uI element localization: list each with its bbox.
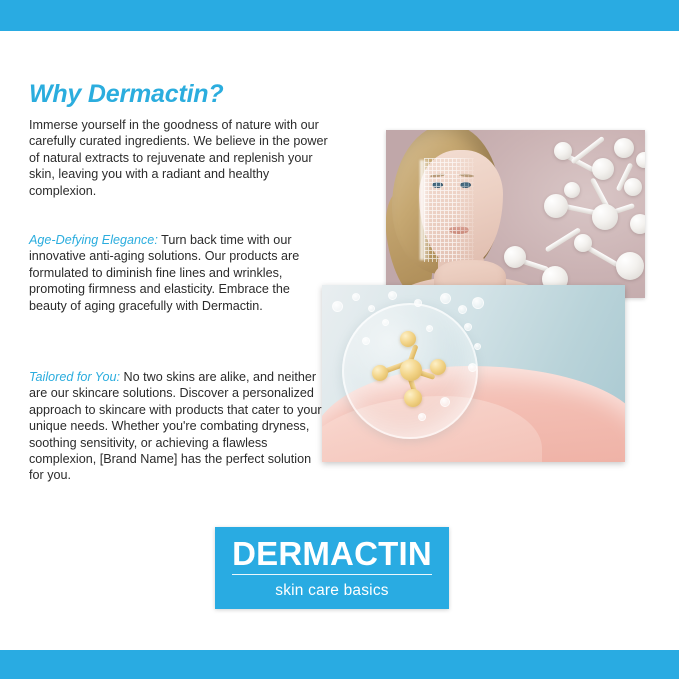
photo2-droplet	[464, 323, 472, 331]
brand-logo-tagline: skin care basics	[275, 582, 388, 600]
photo2-droplet	[382, 319, 389, 326]
photo2-droplet	[362, 337, 370, 345]
photo1-molecule-node	[592, 204, 618, 230]
photo2-droplet	[458, 305, 467, 314]
paragraph-intro-text: Immerse yourself in the goodness of natu…	[29, 118, 328, 198]
page-title: Why Dermactin?	[29, 80, 223, 109]
photo2-droplet	[468, 363, 477, 372]
photo2-droplet	[474, 343, 481, 350]
brand-logo-name: DERMACTIN	[232, 537, 432, 575]
page-content: Why Dermactin? Immerse yourself in the g…	[0, 31, 679, 650]
serum-bubble-silk-photo	[322, 285, 625, 462]
photo2-droplet	[472, 297, 484, 309]
paragraph-intro: Immerse yourself in the goodness of natu…	[29, 117, 329, 199]
paragraph-tailored-lead: Tailored for You:	[29, 370, 120, 384]
photo1-molecule-node	[614, 138, 634, 158]
photo2-molecule-node	[400, 359, 422, 381]
photo2-molecule-node	[400, 331, 416, 347]
photo1-molecule-node	[624, 178, 642, 196]
paragraph-age-defying: Age-Defying Elegance: Turn back time wit…	[29, 232, 329, 314]
woman-facial-scan-molecules-photo	[386, 130, 645, 298]
photo2-droplet	[388, 291, 397, 300]
photo1-molecule-node	[574, 234, 592, 252]
photo2-droplet	[440, 293, 451, 304]
photo1-molecule-node	[630, 214, 645, 234]
paragraph-age-defying-lead: Age-Defying Elegance:	[29, 233, 158, 247]
photo2-droplet	[352, 293, 360, 301]
photo2-droplet	[418, 413, 426, 421]
photo1-molecule-node	[592, 158, 614, 180]
paragraph-tailored: Tailored for You: No two skins are alike…	[29, 369, 329, 484]
photo1-molecule-node	[554, 142, 572, 160]
brand-logo: DERMACTIN skin care basics	[215, 527, 449, 609]
product-description-page: Why Dermactin? Immerse yourself in the g…	[0, 0, 679, 679]
photo1-molecule-node	[564, 182, 580, 198]
photo2-droplet	[414, 299, 422, 307]
photo2-droplet	[368, 305, 375, 312]
paragraph-tailored-text: No two skins are alike, and neither are …	[29, 370, 322, 482]
photo2-molecule-node	[372, 365, 388, 381]
photo1-molecule-node	[616, 252, 644, 280]
photo1-scan-grid	[424, 158, 474, 262]
photo1-molecule-node	[504, 246, 526, 268]
photo2-droplet	[426, 325, 433, 332]
photo2-droplet	[332, 301, 343, 312]
bottom-brand-band	[0, 650, 679, 679]
photo1-molecule-node	[544, 194, 568, 218]
photo2-molecule-node	[430, 359, 446, 375]
photo2-molecule-node	[404, 389, 422, 407]
photo1-molecule-node	[636, 152, 645, 168]
top-brand-band	[0, 0, 679, 31]
photo1-scan-glow	[420, 160, 430, 260]
photo2-droplet	[440, 397, 450, 407]
